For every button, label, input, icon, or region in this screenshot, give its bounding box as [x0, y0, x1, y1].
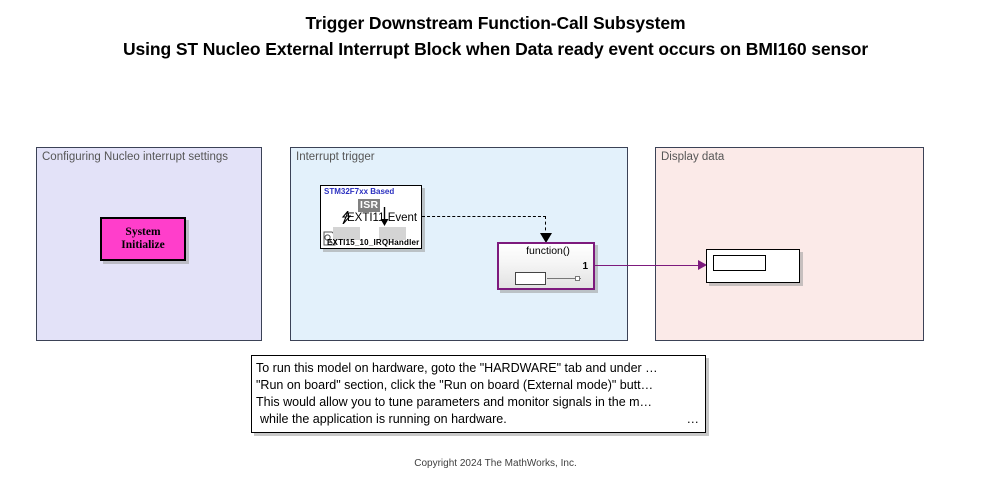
isr-down-arrow-icon — [379, 207, 390, 227]
title-line-1: Trigger Downstream Function-Call Subsyst… — [0, 10, 991, 36]
function-call-subsystem-output-port-label: 1 — [582, 261, 588, 272]
note-line-4-wrapper: … while the application is running on ha… — [256, 411, 699, 428]
note-line-4: while the application is running on hard… — [260, 412, 507, 426]
isr-block-title: STM32F7xx Based — [324, 187, 394, 196]
area-label-config: Configuring Nucleo interrupt settings — [42, 151, 228, 163]
function-call-subsystem-block[interactable]: function() 1 — [497, 242, 595, 290]
display-value-field — [713, 255, 766, 271]
title-line-2: Using ST Nucleo External Interrupt Block… — [0, 36, 991, 62]
slider-value-box — [515, 272, 546, 285]
area-label-display: Display data — [661, 151, 724, 163]
data-signal-line — [595, 265, 702, 266]
isr-badge: ISR — [358, 199, 380, 212]
note-line-4-ellipsis: … — [687, 411, 700, 428]
display-block[interactable] — [706, 249, 800, 283]
system-initialize-label-line2: Initialize — [121, 239, 164, 252]
slider-knob — [575, 276, 580, 281]
area-label-interrupt: Interrupt trigger — [296, 151, 375, 163]
note-line-1: To run this model on hardware, goto the … — [256, 360, 699, 377]
slider-gain-icon — [515, 272, 581, 285]
page-title: Trigger Downstream Function-Call Subsyst… — [0, 10, 991, 62]
isr-handler-label: EXTI15_10_IRQHandler — [327, 238, 419, 247]
system-initialize-block[interactable]: System Initialize — [100, 217, 186, 261]
function-call-subsystem-label: function() — [499, 245, 597, 257]
system-initialize-label-line1: System — [125, 226, 160, 239]
note-line-2: "Run on board" section, click the "Run o… — [256, 377, 699, 394]
note-line-3: This would allow you to tune parameters … — [256, 394, 699, 411]
stm32-external-interrupt-block[interactable]: STM32F7xx Based ISR EXTI11 Event EXTI15_… — [320, 185, 422, 249]
note-annotation[interactable]: To run this model on hardware, goto the … — [251, 355, 706, 433]
event-signal-horizontal — [422, 216, 546, 217]
area-display-data[interactable]: Display data — [655, 147, 924, 341]
copyright-text: Copyright 2024 The MathWorks, Inc. — [0, 458, 991, 469]
